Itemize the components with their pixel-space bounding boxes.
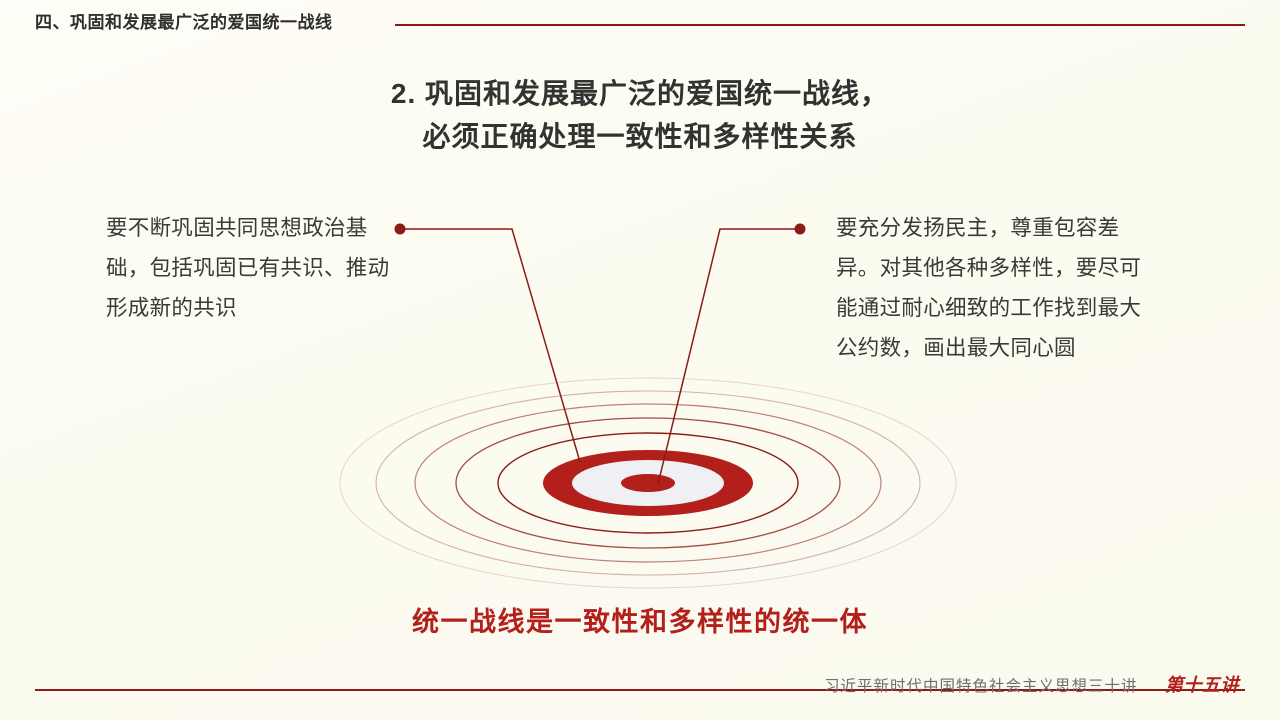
slide-header: 四、巩固和发展最广泛的爱国统一战线 — [0, 10, 1280, 44]
ripple-ring-5 — [340, 378, 956, 588]
page-title: 2. 巩固和发展最广泛的爱国统一战线， 必须正确处理一致性和多样性关系 — [0, 72, 1280, 158]
ripple-ring-3 — [415, 404, 881, 562]
connector-line-left — [400, 229, 580, 462]
header-divider-line — [395, 24, 1245, 26]
page-title-line-1: 2. 巩固和发展最广泛的爱国统一战线， — [0, 72, 1280, 115]
callout-text-right: 要充分发扬民主，尊重包容差异。对其他各种多样性，要尽可能通过耐心细致的工作找到最… — [836, 208, 1156, 368]
footer-lecture-number: 第十五讲 — [1165, 671, 1239, 697]
page-title-line-2: 必须正确处理一致性和多样性关系 — [0, 115, 1280, 158]
summary-caption: 统一战线是一致性和多样性的统一体 — [0, 600, 1280, 639]
section-label: 四、巩固和发展最广泛的爱国统一战线 — [35, 10, 333, 36]
target-bullseye — [543, 450, 753, 516]
bullseye-inner-gap — [572, 460, 724, 506]
slide-canvas: 四、巩固和发展最广泛的爱国统一战线 2. 巩固和发展最广泛的爱国统一战线， 必须… — [0, 0, 1280, 720]
callout-text-left: 要不断巩固共同思想政治基础，包括巩固已有共识、推动形成新的共识 — [106, 208, 396, 328]
footer-series-title: 习近平新时代中国特色社会主义思想三十讲 — [824, 674, 1138, 696]
bullseye-outer-ring — [543, 450, 753, 516]
bullseye-center-dot — [621, 474, 675, 492]
ripple-ring-1 — [498, 433, 798, 533]
connector-line-right — [658, 229, 800, 484]
ripple-ring-4 — [376, 391, 920, 575]
callout-marker-dot-right — [795, 224, 806, 235]
ripple-ring-2 — [456, 418, 840, 548]
outer-ripple-rings — [340, 378, 956, 588]
callout-marker-dot-left — [395, 224, 406, 235]
